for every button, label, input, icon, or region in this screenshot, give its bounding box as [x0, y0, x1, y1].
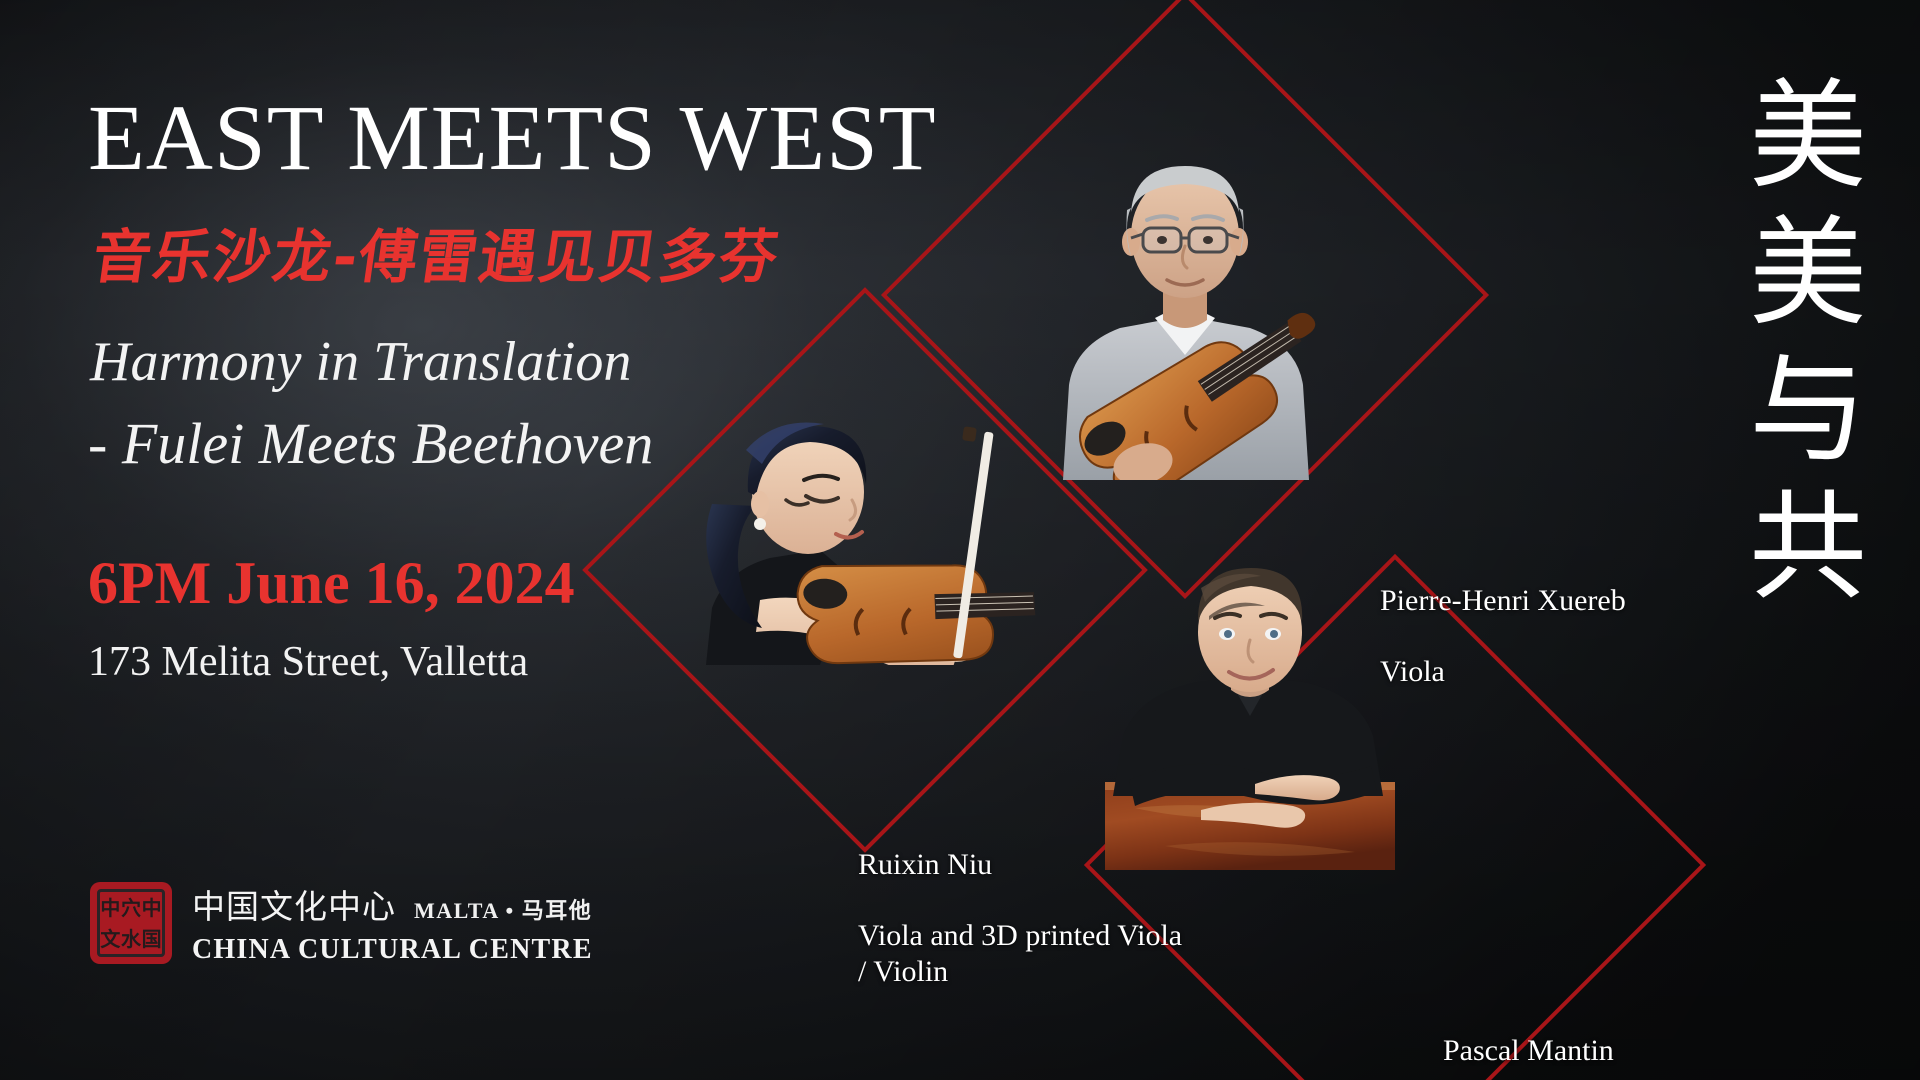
performer-name-mantin: Pascal Mantin [1443, 1033, 1614, 1068]
event-poster: Pierre-Henri Xuereb Viola Ruixin Niu Vio… [0, 0, 1920, 1080]
portrait-xuereb-artwork [1035, 150, 1335, 480]
seal-char-2: 穴 [121, 892, 142, 923]
vertical-char-1: 美 [1744, 68, 1872, 205]
seal-char-1: 中 [100, 892, 121, 923]
logo-text: 中国文化中心 MALTA • 马耳他 CHINA CULTURAL CENTRE [192, 880, 593, 966]
vertical-chinese-motto: 美 美 与 共 [1744, 68, 1872, 616]
poster-title-chinese: 音乐沙龙-傅雷遇见贝多芬 [88, 210, 1054, 294]
vertical-char-2: 美 [1744, 205, 1872, 342]
performer-role-xuereb: Viola [1380, 654, 1626, 689]
performer-caption-xuereb: Pierre-Henri Xuereb Viola [1380, 548, 1626, 725]
logo-location: MALTA • 马耳他 [414, 893, 592, 925]
seal-char-5: 水 [121, 923, 142, 954]
performer-caption-mantin: Pascal Mantin Piano [1443, 998, 1614, 1080]
poster-subtitle-line-2: - Fulei Meets Beethoven [88, 410, 1048, 477]
event-datetime: 6PM June 16, 2024 [88, 549, 1048, 618]
poster-text-column: EAST MEETS WEST 音乐沙龙-傅雷遇见贝多芬 Harmony in … [88, 90, 1048, 686]
logo-name-chinese: 中国文化中心 [192, 880, 396, 928]
seal-characters: 中 穴 中 文 水 国 [97, 889, 165, 957]
seal-icon: 中 穴 中 文 水 国 [90, 882, 172, 964]
performer-name-niu: Ruixin Niu [858, 847, 1182, 882]
china-cultural-centre-logo: 中 穴 中 文 水 国 中国文化中心 MALTA • 马耳他 CHINA CUL… [90, 880, 593, 966]
poster-subtitle-line-1: Harmony in Translation [90, 330, 1048, 394]
event-address: 173 Melita Street, Valletta [88, 638, 1048, 686]
poster-title: EAST MEETS WEST [88, 90, 1048, 188]
portrait-pierre-henri-xuereb [1035, 150, 1335, 480]
vertical-char-3: 与 [1744, 342, 1872, 479]
seal-char-3: 中 [141, 892, 162, 923]
logo-line-chinese: 中国文化中心 MALTA • 马耳他 [192, 880, 593, 928]
seal-char-6: 国 [141, 923, 162, 954]
vertical-char-4: 共 [1744, 479, 1872, 616]
performer-name-xuereb: Pierre-Henri Xuereb [1380, 583, 1626, 618]
logo-name-english: CHINA CULTURAL CENTRE [192, 934, 593, 966]
performer-role-niu: Viola and 3D printed Viola / Violin [858, 918, 1182, 989]
seal-char-4: 文 [100, 923, 121, 954]
performer-caption-niu: Ruixin Niu Viola and 3D printed Viola / … [858, 812, 1182, 1024]
